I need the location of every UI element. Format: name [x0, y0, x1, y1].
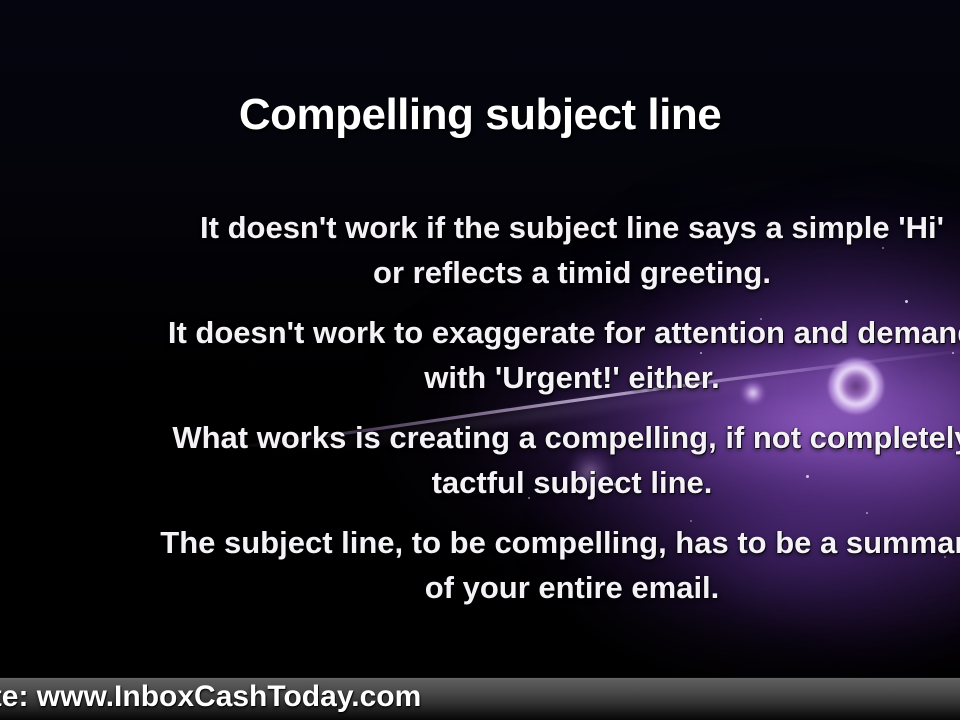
body-line: of your entire email. — [0, 565, 960, 610]
body-line: The subject line, to be compelling, has … — [0, 520, 960, 565]
footer-divider — [0, 677, 960, 678]
body-paragraph-1: It doesn't work if the subject line says… — [0, 205, 960, 295]
star-dot — [905, 300, 908, 303]
video-slide-frame: Compelling subject line It doesn't work … — [0, 0, 960, 720]
body-line: It doesn't work to exaggerate for attent… — [0, 310, 960, 355]
footer-bar: Website: www.InboxCashToday.com — [0, 677, 960, 720]
slide-title: Compelling subject line — [0, 90, 960, 140]
body-paragraph-2: It doesn't work to exaggerate for attent… — [0, 310, 960, 400]
body-line: tactful subject line. — [0, 460, 960, 505]
body-paragraph-4: The subject line, to be compelling, has … — [0, 520, 960, 610]
body-paragraph-3: What works is creating a compelling, if … — [0, 415, 960, 505]
footer-website-text: Website: www.InboxCashToday.com — [0, 680, 421, 714]
body-line: with 'Urgent!' either. — [0, 355, 960, 400]
body-line: It doesn't work if the subject line says… — [0, 205, 960, 250]
body-line: or reflects a timid greeting. — [0, 250, 960, 295]
body-line: What works is creating a compelling, if … — [0, 415, 960, 460]
star-dot — [866, 512, 868, 514]
